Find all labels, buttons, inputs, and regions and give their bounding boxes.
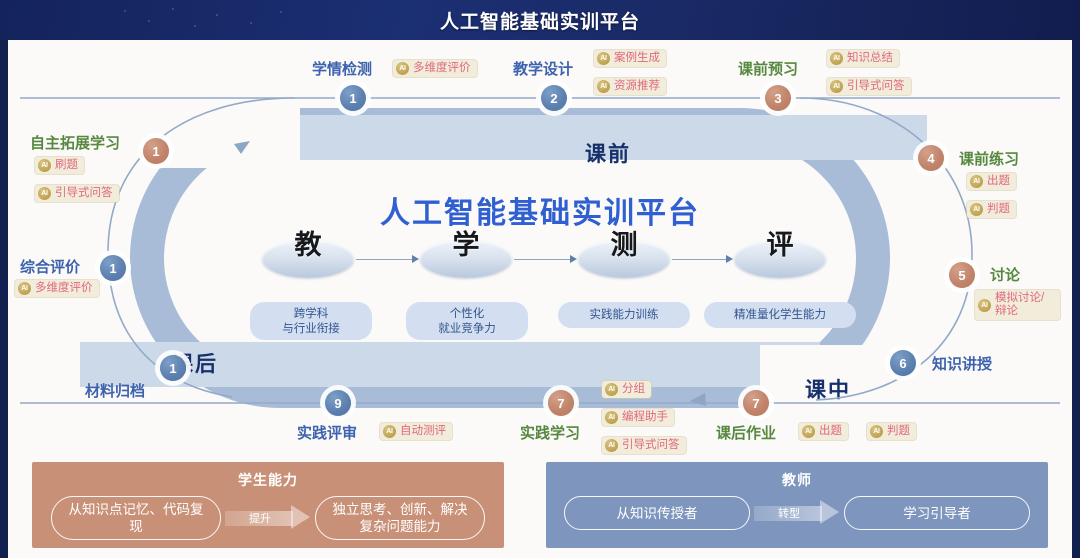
ai-tag-label: 判题: [887, 425, 910, 438]
ai-tag-yindaoshi-wenda-1[interactable]: AI 引导式问答: [827, 78, 911, 95]
ai-tag-fenzu[interactable]: AI 分组: [602, 381, 651, 398]
step-badge-9[interactable]: 9: [325, 390, 351, 416]
step-badge-4[interactable]: 4: [918, 145, 944, 171]
student-state-to: 独立思考、创新、解决复杂问题能力: [315, 496, 485, 540]
ai-tag-label: 知识总结: [847, 52, 893, 65]
step-badge-5[interactable]: 5: [949, 262, 975, 288]
arrow-tip: [820, 500, 839, 524]
step-label-keqianlianxi[interactable]: 课前练习: [959, 148, 1019, 169]
ai-tag-label: 刷题: [55, 159, 78, 172]
step-badge-1-selfstudy[interactable]: 1: [143, 138, 169, 164]
phase-label-before: 课前: [585, 138, 631, 168]
flow-node-ce: 测: [578, 240, 670, 278]
ai-icon: AI: [605, 383, 618, 396]
ai-tag-zhishi-zongjie[interactable]: AI 知识总结: [827, 50, 899, 67]
step-label-zonghepingjia[interactable]: 综合评价: [20, 256, 80, 277]
step-badge-2[interactable]: 2: [541, 85, 567, 111]
ai-tag-label: 案例生成: [614, 52, 660, 65]
panel-teacher-title: 教师: [546, 462, 1048, 490]
right-rail: [1072, 40, 1080, 558]
page-title: 人工智能基础实训平台: [440, 7, 640, 34]
teacher-arrow-label: 转型: [778, 505, 800, 521]
flow-arrow-1-line: [356, 259, 414, 260]
ai-tag-label: 资源推荐: [614, 80, 660, 93]
flow-caption-line1: 精准量化学生能力: [708, 307, 852, 323]
ai-icon: AI: [597, 80, 610, 93]
flow-node-jiao: 教: [262, 240, 354, 278]
panel-teacher-row: 从知识传授者 转型 学习引导者: [546, 496, 1048, 530]
ai-tag-label: 编程助手: [622, 411, 668, 424]
ai-tag-label: 引导式问答: [622, 439, 680, 452]
step-label-cailiaoguidang[interactable]: 材料归档: [85, 380, 145, 401]
flow-node-glyph: 学: [420, 223, 512, 262]
panel-student-row: 从知识点记忆、代码复现 提升 独立思考、创新、解决复杂问题能力: [32, 496, 504, 540]
panel-student-title: 学生能力: [32, 462, 504, 490]
teach-learn-test-eval-flow: 教 跨学科 与行业衔接 学 个性化 就业竞争力 测: [262, 240, 822, 350]
step-label-taolun[interactable]: 讨论: [990, 264, 1020, 285]
student-arrow-label: 提升: [249, 510, 271, 526]
step-badge-1-evaluation[interactable]: 1: [100, 255, 126, 281]
ai-tag-label: 引导式问答: [847, 80, 905, 93]
flow-node-glyph: 评: [734, 223, 826, 262]
flow-arrow-2-head: [570, 255, 577, 263]
flow-node-glyph: 测: [578, 223, 670, 262]
ai-tag-label: 分组: [622, 383, 645, 396]
ai-icon: AI: [597, 52, 610, 65]
step-badge-1[interactable]: 1: [340, 85, 366, 111]
ai-tag-zidong-ceping[interactable]: AI 自动测评: [380, 423, 452, 440]
phase-label-during: 课中: [805, 374, 851, 404]
center-title: 人工智能基础实训平台: [0, 188, 1080, 232]
step-label-keqianyuxi[interactable]: 课前预习: [738, 58, 798, 79]
flow-arrow-2-line: [514, 259, 572, 260]
step-label-zhishijiangshou[interactable]: 知识讲授: [932, 353, 992, 374]
flow-node-glyph: 教: [262, 223, 354, 262]
ai-icon: AI: [38, 159, 51, 172]
step-badge-3[interactable]: 3: [765, 85, 791, 111]
flow-caption-xue: 个性化 就业竞争力: [406, 302, 528, 340]
student-state-from: 从知识点记忆、代码复现: [51, 496, 221, 540]
ai-tag-label: 多维度评价: [35, 282, 93, 295]
header-bar: 人工智能基础实训平台: [0, 0, 1080, 40]
flow-arrow-3-line: [672, 259, 728, 260]
flow-node-ping: 评: [734, 240, 826, 278]
flow-caption-line2: 就业竞争力: [410, 322, 524, 337]
step-label-shijianpingshen[interactable]: 实践评审: [297, 422, 357, 443]
ai-icon: AI: [802, 425, 815, 438]
panel-teacher-role: 教师 从知识传授者 转型 学习引导者: [546, 462, 1048, 548]
ai-icon: AI: [396, 62, 409, 75]
student-transition-arrow: 提升: [225, 507, 311, 529]
flow-caption-line1: 实践能力训练: [562, 307, 686, 323]
ai-tag-label: 出题: [987, 175, 1010, 188]
ai-tag-panti-1[interactable]: AI 判题: [967, 201, 1016, 218]
flow-arrow-1-head: [412, 255, 419, 263]
ai-icon: AI: [870, 425, 883, 438]
ai-tag-label: 模拟讨论/辩论: [995, 292, 1054, 318]
flow-caption-line1: 跨学科: [254, 307, 368, 322]
ai-tag-panti-2[interactable]: AI 判题: [867, 423, 916, 440]
arrow-tip: [291, 505, 310, 529]
ai-icon: AI: [605, 411, 618, 424]
ai-tag-biancheng-zhushou[interactable]: AI 编程助手: [602, 409, 674, 426]
step-label-jiaoxuesheji[interactable]: 教学设计: [513, 58, 573, 79]
slide-canvas: 人工智能基础实训平台 课前 课中 课后 人工智能基础: [0, 0, 1080, 558]
ai-icon: AI: [38, 187, 51, 200]
step-label-xueqingjiance[interactable]: 学情检测: [312, 58, 372, 79]
ai-icon: AI: [830, 80, 843, 93]
flow-node-ellipse: 教: [262, 240, 354, 278]
flow-caption-jiao: 跨学科 与行业衔接: [250, 302, 372, 340]
ai-tag-shuati[interactable]: AI 刷题: [35, 157, 84, 174]
ai-icon: AI: [830, 52, 843, 65]
teacher-role-from: 从知识传授者: [564, 496, 750, 530]
ai-tag-duoweiduo-pingjia[interactable]: AI 多维度评价: [393, 60, 477, 77]
flow-caption-line1: 个性化: [410, 307, 524, 322]
header-decorative-dots: [120, 6, 300, 34]
ai-icon: AI: [978, 299, 991, 312]
teacher-role-to: 学习引导者: [844, 496, 1030, 530]
diagram-canvas: 课前 课中 课后 人工智能基础实训平台 教: [0, 40, 1080, 558]
ai-tag-duoweiduo-pingjia-2[interactable]: AI 多维度评价: [15, 280, 99, 297]
ai-icon: AI: [18, 282, 31, 295]
step-label-shijianxuexi[interactable]: 实践学习: [520, 422, 580, 443]
ai-tag-chuti-1[interactable]: AI 出题: [967, 173, 1016, 190]
flow-caption-line2: 与行业衔接: [254, 322, 368, 337]
ai-icon: AI: [605, 439, 618, 452]
left-rail: [0, 40, 8, 558]
panel-student-ability: 学生能力 从知识点记忆、代码复现 提升 独立思考、创新、解决复杂问题能力: [32, 462, 504, 548]
ai-tag-yindaoshi-wenda-2[interactable]: AI 引导式问答: [602, 437, 686, 454]
flow-node-ellipse: 测: [578, 240, 670, 278]
step-badge-1-archive[interactable]: 1: [160, 355, 186, 381]
teacher-transition-arrow: 转型: [754, 502, 840, 524]
ai-icon: AI: [970, 175, 983, 188]
ai-tag-label: 出题: [819, 425, 842, 438]
ai-icon: AI: [970, 203, 983, 216]
ai-tag-label: 判题: [987, 203, 1010, 216]
ai-tag-label: 多维度评价: [413, 62, 471, 75]
step-badge-6[interactable]: 6: [890, 350, 916, 376]
ai-tag-label: 自动测评: [400, 425, 446, 438]
flow-node-ellipse: 学: [420, 240, 512, 278]
ai-tag-monituolun-bianlun[interactable]: AI 模拟讨论/辩论: [975, 290, 1060, 320]
ai-tag-yindaoshi-wenda-3[interactable]: AI 引导式问答: [35, 185, 119, 202]
flow-caption-ping: 精准量化学生能力: [704, 302, 856, 328]
flow-caption-ce: 实践能力训练: [558, 302, 690, 328]
step-badge-7-homework[interactable]: 7: [743, 390, 769, 416]
flow-arrow-3-head: [726, 255, 733, 263]
step-label-zizhutuozhanxuexi[interactable]: 自主拓展学习: [30, 132, 120, 153]
ai-tag-ziyuan-tuijian[interactable]: AI 资源推荐: [594, 78, 666, 95]
flow-node-xue: 学: [420, 240, 512, 278]
flow-node-ellipse: 评: [734, 240, 826, 278]
ai-tag-anli-shengcheng[interactable]: AI 案例生成: [594, 50, 666, 67]
step-label-kehouzuoye[interactable]: 课后作业: [716, 422, 776, 443]
step-badge-7-practice[interactable]: 7: [548, 390, 574, 416]
ai-tag-label: 引导式问答: [55, 187, 113, 200]
ai-tag-chuti-2[interactable]: AI 出题: [799, 423, 848, 440]
ai-icon: AI: [383, 425, 396, 438]
